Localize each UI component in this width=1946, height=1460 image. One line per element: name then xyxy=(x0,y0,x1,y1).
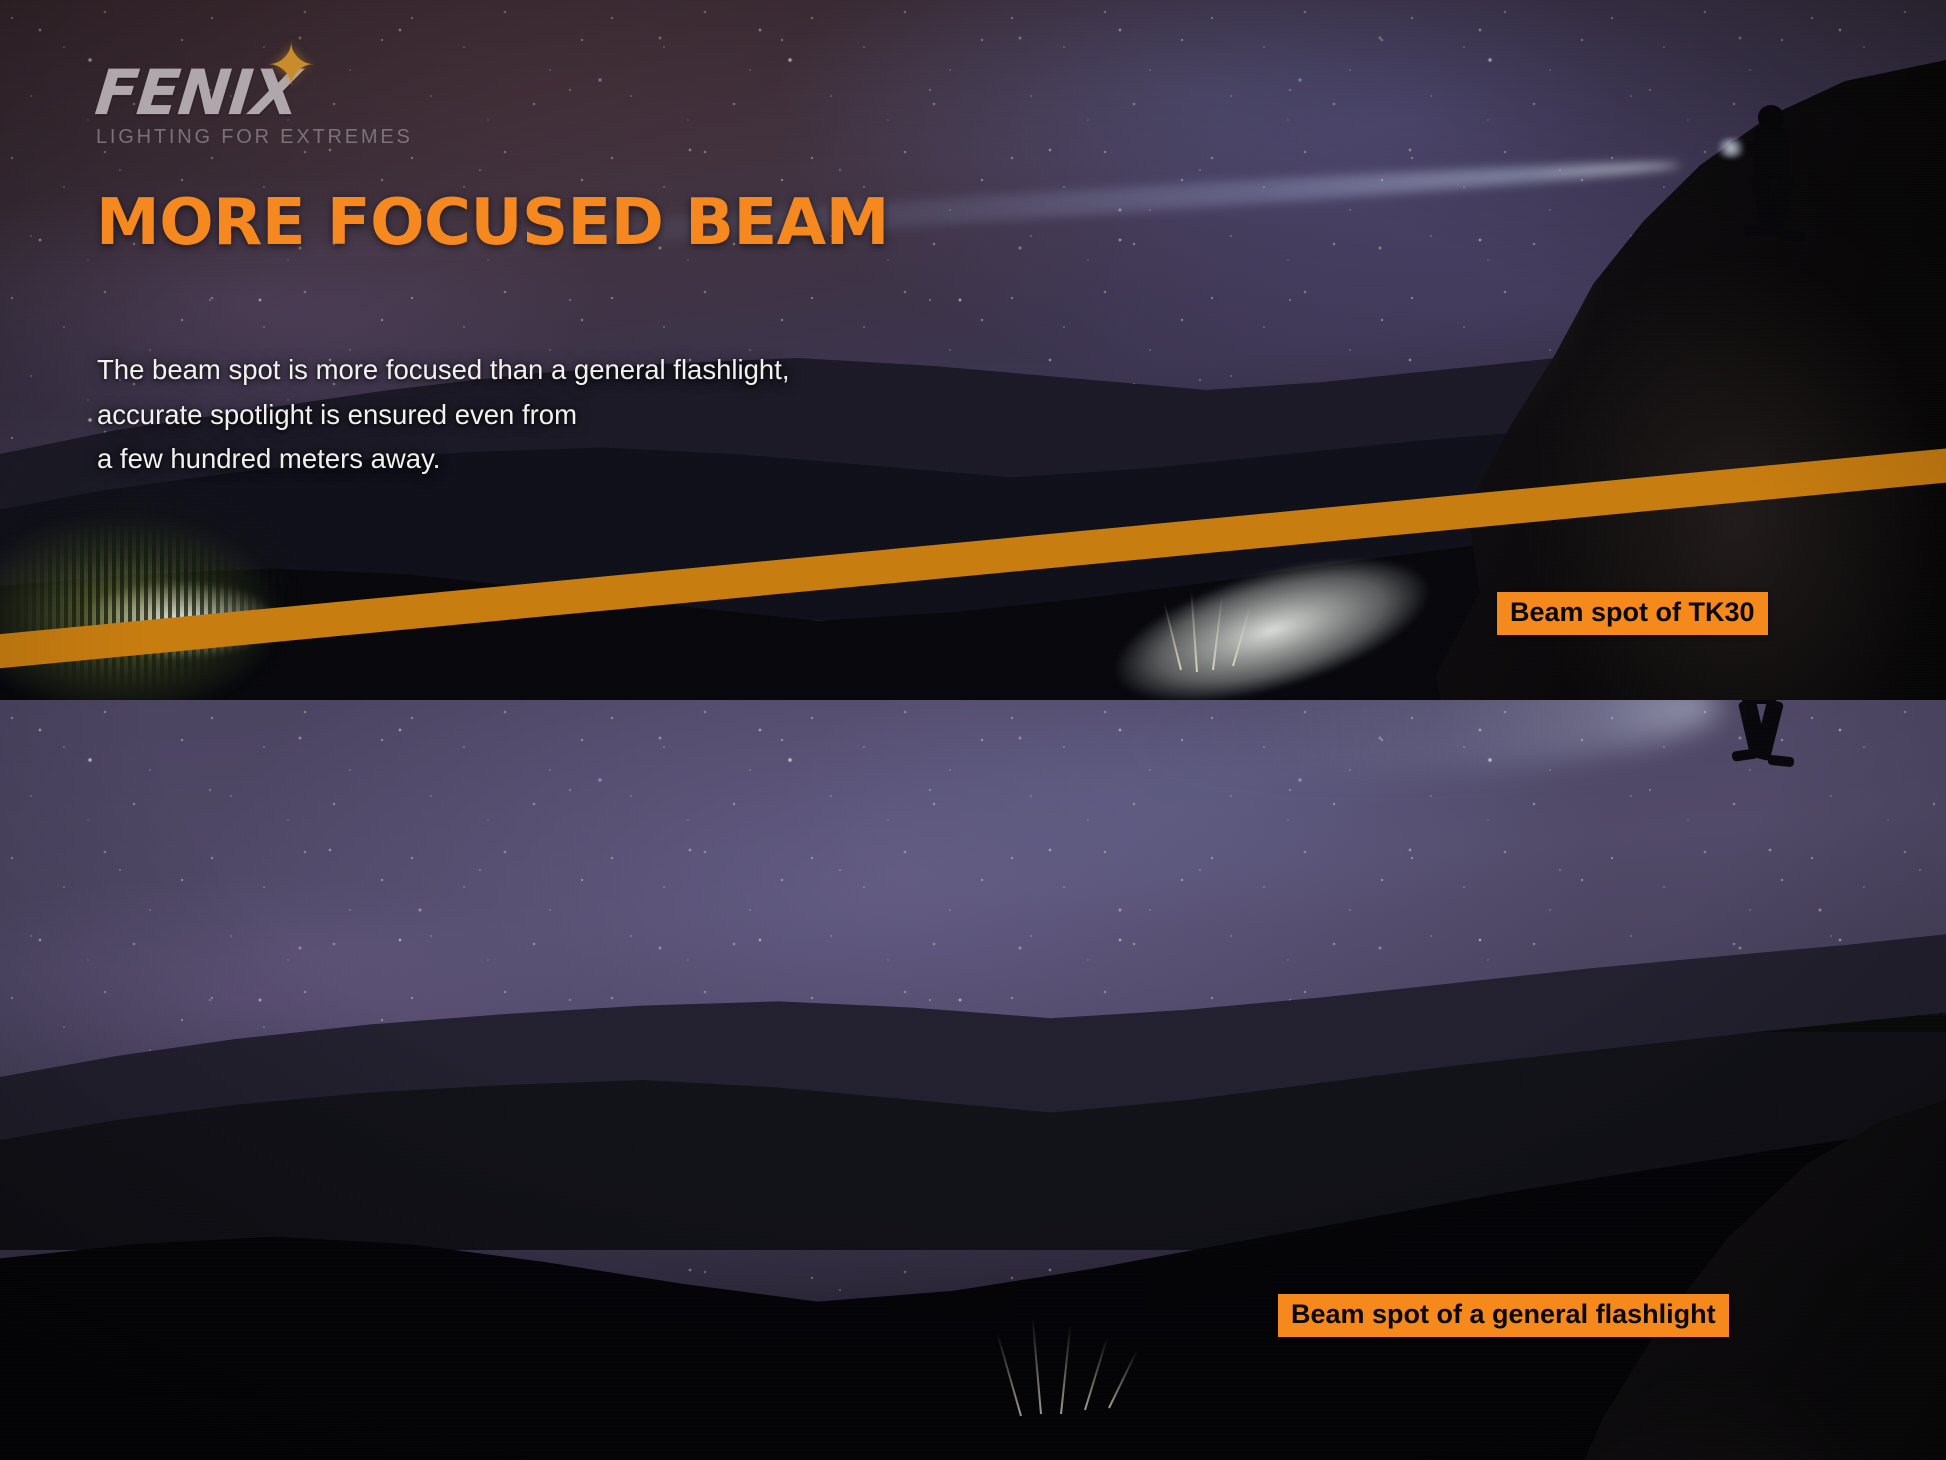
brand-tagline: LIGHTING FOR EXTREMES xyxy=(96,126,413,149)
brand-wordmark: FENIX xyxy=(93,62,416,124)
hiker-with-flashlight-top xyxy=(1712,105,1832,275)
description-line-2: accurate spotlight is ensured even from xyxy=(97,393,789,438)
star-icon: ✦ xyxy=(266,46,312,92)
badge-beam-spot-general-flashlight: Beam spot of a general flashlight xyxy=(1278,1294,1729,1337)
page-title: MORE FOCUSED BEAM xyxy=(96,190,889,257)
description-line-3: a few hundred meters away. xyxy=(97,437,789,482)
hiker-with-flashlight-bottom xyxy=(1700,700,1820,800)
promo-graphic: FENIX ✦ LIGHTING FOR EXTREMES MORE FOCUS… xyxy=(0,0,1946,1460)
description-text: The beam spot is more focused than a gen… xyxy=(97,348,789,482)
scene-panel-bottom xyxy=(0,700,1946,1460)
flashlight-head-glow-top xyxy=(1714,138,1748,158)
badge-beam-spot-tk30: Beam spot of TK30 xyxy=(1497,592,1768,635)
description-line-1: The beam spot is more focused than a gen… xyxy=(97,348,789,393)
brand-logo[interactable]: FENIX ✦ LIGHTING FOR EXTREMES xyxy=(96,62,413,149)
